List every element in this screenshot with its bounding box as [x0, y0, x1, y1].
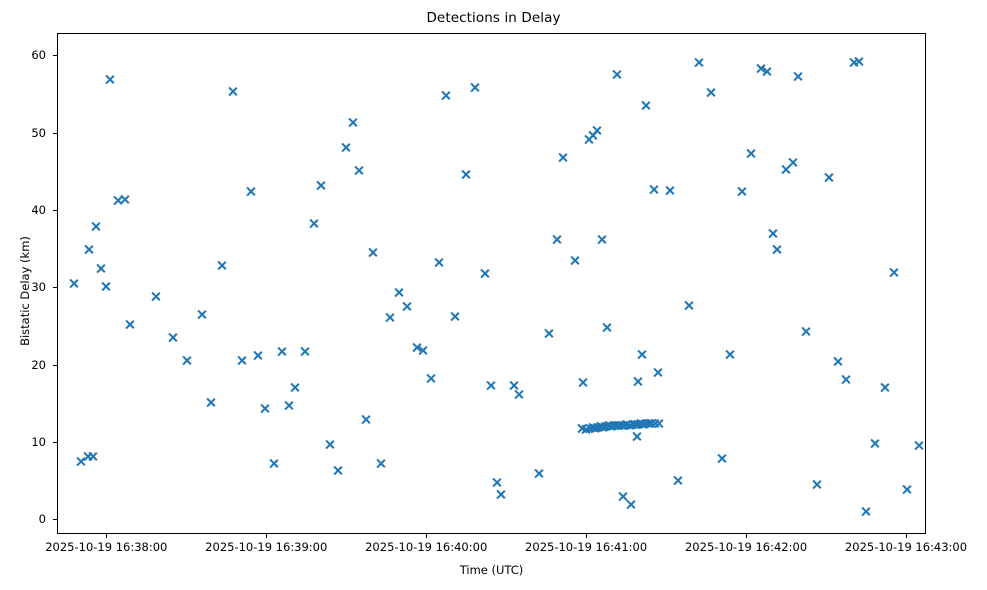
scatter-point	[646, 418, 657, 429]
scatter-point	[411, 342, 422, 353]
scatter-point	[580, 424, 591, 435]
scatter-point	[632, 419, 643, 430]
scatter-point	[811, 479, 822, 490]
scatter-point	[630, 419, 641, 430]
scatter-point	[598, 422, 609, 433]
scatter-point	[724, 349, 735, 360]
scatter-point	[332, 465, 343, 476]
scatter-point	[619, 420, 630, 431]
scatter-point	[664, 185, 675, 196]
scatter-point	[626, 499, 637, 510]
scatter-point	[648, 184, 659, 195]
scatter-point	[583, 134, 594, 145]
scatter-point	[360, 414, 371, 425]
scatter-point	[706, 87, 717, 98]
scatter-point	[508, 380, 519, 391]
scatter-point	[600, 421, 611, 432]
x-axis-tick-label: 2025-10-19 16:42:00	[685, 540, 807, 554]
x-axis-tick-label: 2025-10-19 16:40:00	[365, 540, 487, 554]
scatter-point	[640, 100, 651, 111]
scatter-point	[551, 234, 562, 245]
x-axis-tick	[266, 534, 267, 538]
scatter-point	[576, 423, 587, 434]
scatter-point	[800, 326, 811, 337]
scatter-point	[767, 228, 778, 239]
scatter-point	[879, 382, 890, 393]
scatter-point	[860, 506, 871, 517]
scatter-point	[595, 421, 606, 432]
scatter-point	[616, 420, 627, 431]
y-axis-tick	[53, 442, 57, 443]
x-axis-tick-label: 2025-10-19 16:43:00	[845, 540, 967, 554]
scatter-point	[652, 367, 663, 378]
scatter-point	[635, 418, 646, 429]
scatter-point	[587, 422, 598, 433]
scatter-point	[914, 440, 925, 451]
scatter-point	[888, 267, 899, 278]
scatter-point	[755, 63, 766, 74]
scatter-point	[375, 458, 386, 469]
scatter-point	[402, 301, 413, 312]
scatter-point	[450, 311, 461, 322]
scatter-point	[367, 247, 378, 258]
y-axis-tick-label: 10	[0, 435, 46, 449]
scatter-point	[618, 491, 629, 502]
scatter-point	[82, 451, 93, 462]
scatter-point	[324, 439, 335, 450]
scatter-point	[650, 418, 661, 429]
scatter-point	[632, 376, 643, 387]
scatter-point	[112, 195, 123, 206]
scatter-point	[591, 125, 602, 136]
x-axis-tick	[106, 534, 107, 538]
y-axis-tick-label: 60	[0, 48, 46, 62]
y-axis-label: Bistatic Delay (km)	[18, 161, 32, 421]
scatter-point	[631, 431, 642, 442]
scatter-point	[611, 420, 622, 431]
scatter-point	[608, 420, 619, 431]
scatter-point	[606, 421, 617, 432]
scatter-point	[315, 180, 326, 191]
x-axis-tick	[746, 534, 747, 538]
scatter-point	[654, 418, 665, 429]
scatter-point	[514, 389, 525, 400]
scatter-point	[470, 82, 481, 93]
scatter-point	[236, 355, 247, 366]
scatter-point	[90, 221, 101, 232]
x-axis-tick-label: 2025-10-19 16:41:00	[525, 540, 647, 554]
scatter-point	[95, 263, 106, 274]
scatter-point	[276, 346, 287, 357]
y-axis-tick-label: 50	[0, 126, 46, 140]
scatter-point	[283, 400, 294, 411]
scatter-point	[590, 423, 601, 434]
scatter-point	[227, 86, 238, 97]
scatter-point	[167, 332, 178, 343]
scatter-point	[68, 278, 79, 289]
scatter-point	[479, 268, 490, 279]
scatter-point	[290, 382, 301, 393]
x-axis-tick	[586, 534, 587, 538]
scatter-point	[119, 194, 130, 205]
scatter-point	[440, 90, 451, 101]
scatter-plot-area	[58, 34, 925, 533]
scatter-point	[216, 260, 227, 271]
scatter-point	[308, 218, 319, 229]
y-axis-tick	[53, 55, 57, 56]
figure-canvas: Detections in Delay 2025-10-19 16:38:002…	[0, 0, 987, 590]
scatter-point	[780, 164, 791, 175]
scatter-point	[902, 484, 913, 495]
plot-axes	[57, 33, 926, 534]
y-axis-tick	[53, 287, 57, 288]
scatter-point	[558, 152, 569, 163]
scatter-point	[268, 458, 279, 469]
scatter-point	[384, 312, 395, 323]
scatter-point	[259, 403, 270, 414]
scatter-point	[870, 438, 881, 449]
scatter-point	[578, 377, 589, 388]
scatter-point	[746, 148, 757, 159]
scatter-point	[762, 66, 773, 77]
scatter-point	[792, 71, 803, 82]
scatter-point	[196, 309, 207, 320]
scatter-point	[592, 422, 603, 433]
scatter-point	[252, 350, 263, 361]
scatter-point	[83, 244, 94, 255]
scatter-point	[640, 418, 651, 429]
scatter-point	[486, 380, 497, 391]
scatter-point	[206, 397, 217, 408]
scatter-point	[840, 374, 851, 385]
y-axis-tick-label: 0	[0, 512, 46, 526]
scatter-point	[100, 281, 111, 292]
scatter-point	[584, 423, 595, 434]
scatter-point	[622, 419, 633, 430]
scatter-point	[394, 287, 405, 298]
scatter-point	[832, 356, 843, 367]
scatter-point	[246, 186, 257, 197]
x-axis-tick	[426, 534, 427, 538]
y-axis-tick	[53, 365, 57, 366]
page-title: Detections in Delay	[0, 10, 987, 26]
scatter-point	[182, 355, 193, 366]
scatter-point	[672, 475, 683, 486]
scatter-point	[534, 468, 545, 479]
x-axis-tick-label: 2025-10-19 16:38:00	[45, 540, 167, 554]
scatter-point	[75, 456, 86, 467]
scatter-point	[602, 322, 613, 333]
scatter-point	[460, 169, 471, 180]
scatter-point	[418, 345, 429, 356]
scatter-point	[596, 234, 607, 245]
x-axis-tick-label: 2025-10-19 16:39:00	[205, 540, 327, 554]
y-axis-tick	[53, 519, 57, 520]
scatter-point	[543, 328, 554, 339]
scatter-point	[624, 420, 635, 431]
scatter-point	[683, 300, 694, 311]
scatter-point	[611, 69, 622, 80]
scatter-point	[603, 420, 614, 431]
x-axis-tick	[906, 534, 907, 538]
scatter-point	[87, 451, 98, 462]
scatter-point	[823, 172, 834, 183]
scatter-point	[340, 142, 351, 153]
scatter-point	[299, 346, 310, 357]
scatter-point	[104, 74, 115, 85]
scatter-point	[491, 477, 502, 488]
scatter-point	[694, 57, 705, 68]
y-axis-tick	[53, 133, 57, 134]
scatter-point	[570, 255, 581, 266]
scatter-point	[627, 419, 638, 430]
x-axis-label: Time (UTC)	[57, 563, 926, 577]
scatter-point	[771, 244, 782, 255]
scatter-point	[354, 165, 365, 176]
scatter-point	[426, 373, 437, 384]
scatter-point	[614, 420, 625, 431]
scatter-point	[124, 319, 135, 330]
scatter-point	[854, 56, 865, 67]
scatter-point	[587, 130, 598, 141]
scatter-point	[716, 453, 727, 464]
y-axis-tick	[53, 210, 57, 211]
scatter-point	[643, 418, 654, 429]
scatter-point	[924, 409, 925, 420]
scatter-point	[150, 291, 161, 302]
scatter-point	[347, 117, 358, 128]
scatter-point	[636, 349, 647, 360]
scatter-point	[638, 419, 649, 430]
scatter-point	[736, 186, 747, 197]
scatter-point	[495, 489, 506, 500]
scatter-point	[434, 257, 445, 268]
scatter-point	[848, 57, 859, 68]
scatter-point	[787, 157, 798, 168]
